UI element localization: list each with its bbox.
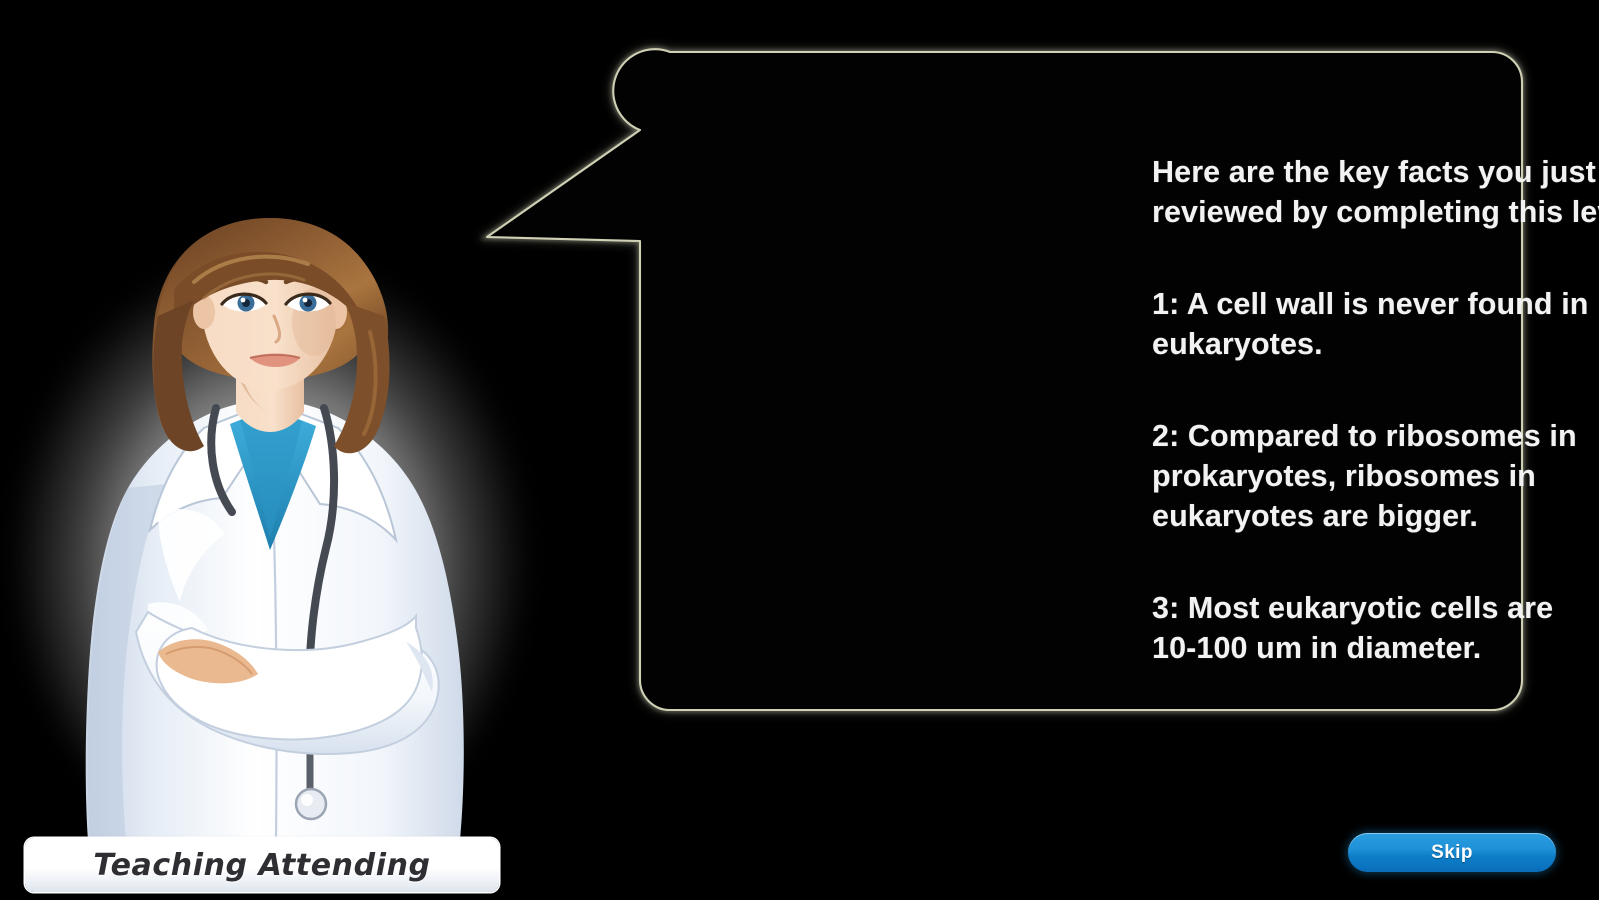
bubble-fact-1: 1: A cell wall is never found in eukaryo… bbox=[1152, 284, 1599, 364]
character-illustration bbox=[8, 212, 528, 852]
spacer-1 bbox=[1152, 232, 1599, 284]
speech-bubble: Here are the key facts you just reviewed… bbox=[460, 38, 1550, 738]
spacer-2 bbox=[1152, 364, 1599, 416]
game-scene: Here are the key facts you just reviewed… bbox=[0, 0, 1599, 900]
bubble-fact-2: 2: Compared to ribosomes in prokaryotes,… bbox=[1152, 416, 1599, 536]
character-nameplate: Teaching Attending bbox=[25, 838, 499, 892]
bubble-text-block: Here are the key facts you just reviewed… bbox=[1152, 152, 1599, 668]
bubble-intro-text: Here are the key facts you just reviewed… bbox=[1152, 152, 1599, 232]
bubble-fact-3: 3: Most eukaryotic cells are 10-100 um i… bbox=[1152, 588, 1599, 668]
character-name-label: Teaching Attending bbox=[93, 848, 430, 883]
character-avatar bbox=[8, 212, 528, 852]
skip-button[interactable]: Skip bbox=[1348, 833, 1556, 872]
spacer-3 bbox=[1152, 536, 1599, 588]
